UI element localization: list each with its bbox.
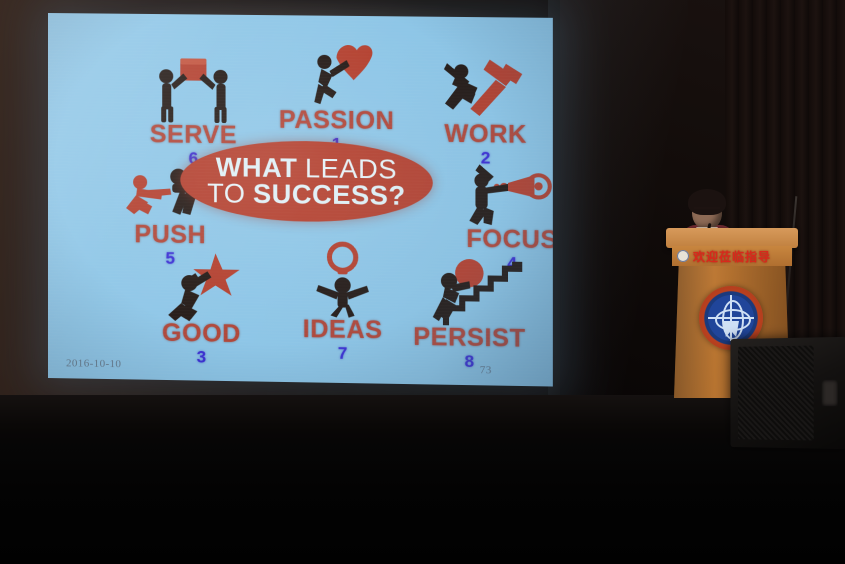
slide-item-number: 8 [408, 350, 530, 375]
speaker-glasses [694, 207, 720, 215]
slide-item-label: IDEAS [282, 317, 403, 344]
figure-pushing-ball-up-stairs-icon [408, 256, 530, 326]
podium-small-logo-icon [677, 250, 689, 262]
slide-item-label: PUSH [110, 222, 231, 249]
emblem-ring-vertical [722, 300, 744, 340]
slide-item-label: GOOD [141, 320, 262, 347]
speaker-grill [738, 346, 814, 441]
podium-top-surface [666, 228, 798, 248]
slide-footer-page-number: 73 [480, 364, 492, 376]
loudspeaker-cabinet [730, 337, 845, 449]
auditorium-scene: SERVE 6 [0, 0, 845, 564]
slide-item-good: GOOD 3 [141, 252, 262, 370]
presentation-slide: SERVE 6 [48, 13, 553, 387]
slide-item-label: PASSION [276, 108, 397, 135]
slide-surface: SERVE 6 [48, 13, 553, 387]
slide-item-under-lightbulb: IDEAS 7 [282, 248, 403, 366]
figure-swinging-hammer-icon [425, 53, 547, 123]
slide-item-number: 3 [141, 346, 262, 371]
slide-item-label: FOCUS [451, 227, 553, 254]
slide-item-persist: PERSIST 8 [408, 256, 530, 375]
slide-item-label: WORK [425, 121, 547, 148]
podium-banner: 欢迎莅临指导 [672, 246, 792, 266]
figure-climbing-heart-icon [276, 39, 397, 109]
slide-item-work: WORK 2 [425, 53, 547, 171]
podium-banner-text: 欢迎莅临指导 [693, 248, 771, 265]
projection-screen: SERVE 6 [48, 13, 553, 387]
figure-under-lightbulb-icon [282, 248, 403, 318]
speaker-handle [822, 380, 838, 406]
slide-item-number: 7 [282, 342, 403, 367]
slide-item-label: SERVE [133, 122, 254, 149]
figure-reaching-star-icon [141, 252, 262, 322]
two-figures-lifting-box-icon [133, 54, 254, 124]
slide-item-label: PERSIST [408, 325, 530, 352]
slide-item-passion: PASSION 1 [276, 39, 397, 157]
oval-word-success: SUCCESS? [253, 179, 406, 211]
slide-footer-date: 2016-10-10 [66, 357, 121, 370]
oval-word-to: TO [207, 178, 245, 209]
stage-floor [0, 440, 845, 564]
emblem-globe [708, 295, 754, 341]
figure-with-telescope-icon [451, 158, 553, 228]
